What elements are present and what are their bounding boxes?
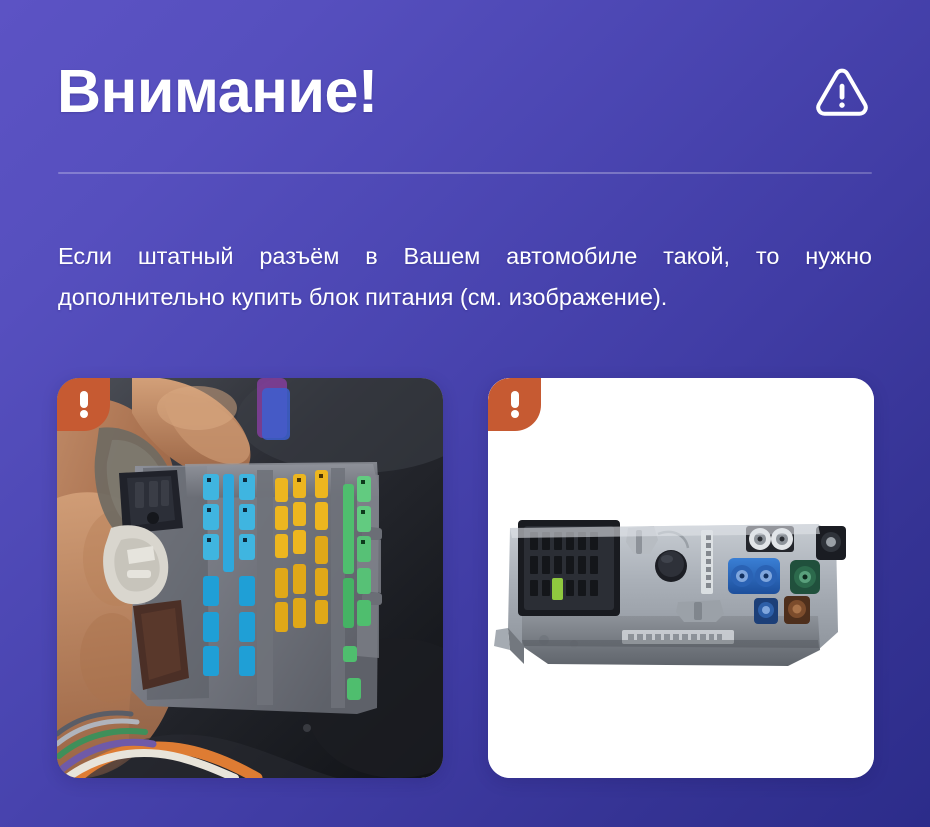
- card-power-supply-photo[interactable]: [488, 378, 874, 778]
- warning-notice-page: Внимание! Если штатный разъём в Вашем ав…: [0, 0, 930, 827]
- warning-triangle-icon: [813, 62, 871, 120]
- exclamation-badge-icon: [488, 378, 541, 431]
- notice-text: Если штатный разъём в Вашем автомобиле т…: [58, 236, 872, 318]
- connector-photo-image: [57, 378, 443, 778]
- power-supply-photo-image: [488, 378, 874, 778]
- page-title: Внимание!: [57, 58, 378, 124]
- notice-text-line-1: Если штатный разъём в Вашем автомобиле т…: [58, 236, 872, 277]
- exclamation-badge-icon: [57, 378, 110, 431]
- exclamation-mark: [511, 391, 519, 418]
- header-divider: [58, 172, 872, 174]
- card-connector-photo[interactable]: [57, 378, 443, 778]
- exclamation-mark: [80, 391, 88, 418]
- page-header: Внимание!: [57, 52, 873, 130]
- image-card-row: [57, 378, 873, 778]
- notice-text-line-2: дополнительно купить блок питания (см. и…: [58, 277, 872, 318]
